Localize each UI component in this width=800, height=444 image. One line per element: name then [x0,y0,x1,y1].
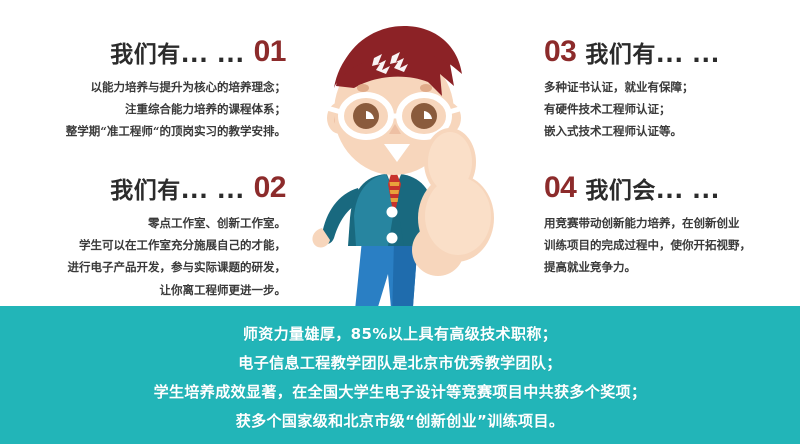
feature-title-04: 我们会... ... [585,180,719,203]
banner-line: 学生培养成效显著，在全国大学生电子设计等竞赛项目中共获多个奖项； [154,385,647,400]
feature-number-01: 01 [254,38,286,67]
feature-body-03: 多种证书认证，就业有保障； 有硬件技术工程师认证； 嵌入式技术工程师认证等。 [544,76,800,143]
feature-number-04: 04 [544,174,576,203]
feature-line: 嵌入式技术工程师认证等。 [544,120,800,142]
feature-line: 用竞赛带动创新能力培养，在创新创业 [544,212,800,234]
feature-line: 整学期“准工程师“的顶岗实习的教学安排。 [6,120,286,142]
feature-line: 以能力培养与提升为核心的培养理念； [6,76,286,98]
feature-title-01: 我们有... ... [110,44,244,67]
feature-heading-02: 我们有... ... 02 [6,174,286,203]
feature-line: 提高就业竞争力。 [544,256,800,278]
student-boy-illustration [300,12,510,322]
banner-line: 电子信息工程教学团队是北京市优秀教学团队； [238,356,561,371]
feature-line: 训练项目的完成过程中，使你开拓视野， [544,234,800,256]
feature-line: 有硬件技术工程师认证； [544,98,800,120]
infographic-canvas: 我们有... ... 01 以能力培养与提升为核心的培养理念； 注重综合能力培养… [0,0,800,444]
feature-line: 注重综合能力培养的课程体系； [6,98,286,120]
feature-block-02: 我们有... ... 02 零点工作室、创新工作室。 学生可以在工作室充分施展自… [6,174,286,301]
feature-body-01: 以能力培养与提升为核心的培养理念； 注重综合能力培养的课程体系； 整学期“准工程… [6,76,286,143]
feature-block-04: 04 我们会... ... 用竞赛带动创新能力培养，在创新创业 训练项目的完成过… [544,174,800,279]
feature-block-01: 我们有... ... 01 以能力培养与提升为核心的培养理念； 注重综合能力培养… [6,38,286,143]
feature-title-03: 我们有... ... [585,44,719,67]
feature-number-02: 02 [254,174,286,203]
banner-line: 获多个国家级和北京市级“创新创业”训练项目。 [236,414,565,429]
feature-heading-03: 03 我们有... ... [544,38,800,67]
feature-block-03: 03 我们有... ... 多种证书认证，就业有保障； 有硬件技术工程师认证； … [544,38,800,143]
feature-heading-01: 我们有... ... 01 [6,38,286,67]
feature-heading-04: 04 我们会... ... [544,174,800,203]
highlight-banner: 师资力量雄厚，85%以上具有高级技术职称； 电子信息工程教学团队是北京市优秀教学… [0,306,800,444]
feature-line: 让你离工程师更进一步。 [6,279,286,301]
feature-body-02: 零点工作室、创新工作室。 学生可以在工作室充分施展自己的才能， 进行电子产品开发… [6,212,286,302]
feature-line: 零点工作室、创新工作室。 [6,212,286,234]
feature-line: 进行电子产品开发，参与实际课题的研发， [6,256,286,278]
feature-line: 多种证书认证，就业有保障； [544,76,800,98]
student-boy-thumbs-up-icon [300,12,510,322]
feature-line: 学生可以在工作室充分施展自己的才能， [6,234,286,256]
feature-title-02: 我们有... ... [110,180,244,203]
feature-number-03: 03 [544,38,576,67]
feature-body-04: 用竞赛带动创新能力培养，在创新创业 训练项目的完成过程中，使你开拓视野， 提高就… [544,212,800,279]
banner-line: 师资力量雄厚，85%以上具有高级技术职称； [243,327,557,342]
